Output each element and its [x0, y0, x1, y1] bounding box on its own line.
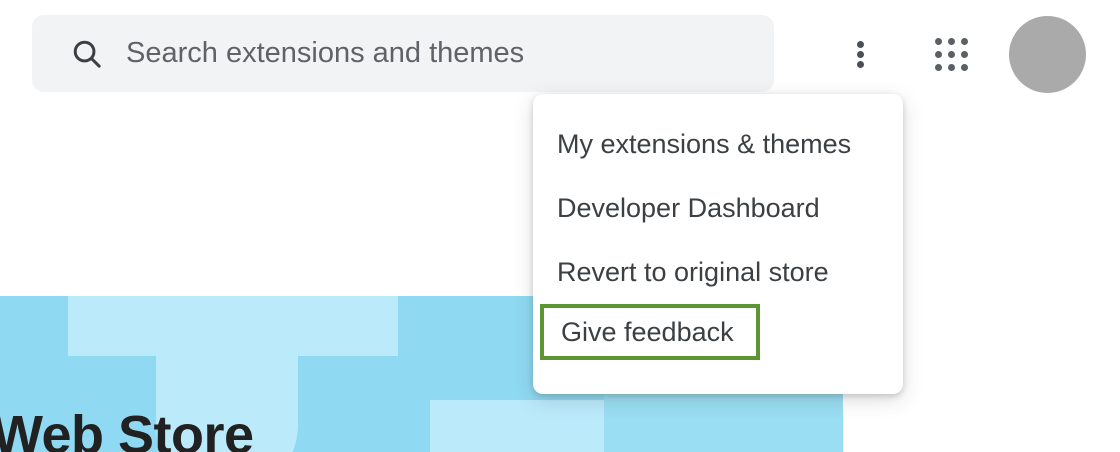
dot [961, 51, 968, 58]
hero-decoration-rect-lower-left [430, 400, 605, 452]
dot [857, 51, 864, 58]
dot [935, 51, 942, 58]
hero-decoration-rect-top [68, 296, 398, 356]
menu-item-give-feedback[interactable]: Give feedback [540, 304, 760, 360]
menu-item-revert-to-original-store[interactable]: Revert to original store [533, 240, 903, 304]
avatar[interactable] [1009, 16, 1086, 93]
dot [935, 38, 942, 45]
hero-decoration-rect-lower-right [604, 388, 843, 452]
overflow-menu: My extensions & themes Developer Dashboa… [533, 94, 903, 394]
dot [948, 38, 955, 45]
apps-grid-icon[interactable] [927, 30, 975, 78]
search-icon [70, 37, 104, 71]
apps-grid-dots [935, 38, 968, 71]
menu-item-my-extensions-themes[interactable]: My extensions & themes [533, 112, 903, 176]
top-bar [0, 0, 1120, 108]
dot [948, 64, 955, 71]
dot [935, 64, 942, 71]
more-vertical-icon[interactable] [836, 30, 884, 78]
dot [961, 38, 968, 45]
dot [948, 51, 955, 58]
more-vertical-dots [857, 41, 864, 68]
search-bar[interactable] [32, 15, 774, 92]
page-root: Web Store [0, 0, 1120, 452]
menu-item-developer-dashboard[interactable]: Developer Dashboard [533, 176, 903, 240]
page-title: Web Store [0, 408, 254, 452]
dot [857, 61, 864, 68]
dot [857, 41, 864, 48]
search-input[interactable] [126, 37, 726, 70]
dot [961, 64, 968, 71]
